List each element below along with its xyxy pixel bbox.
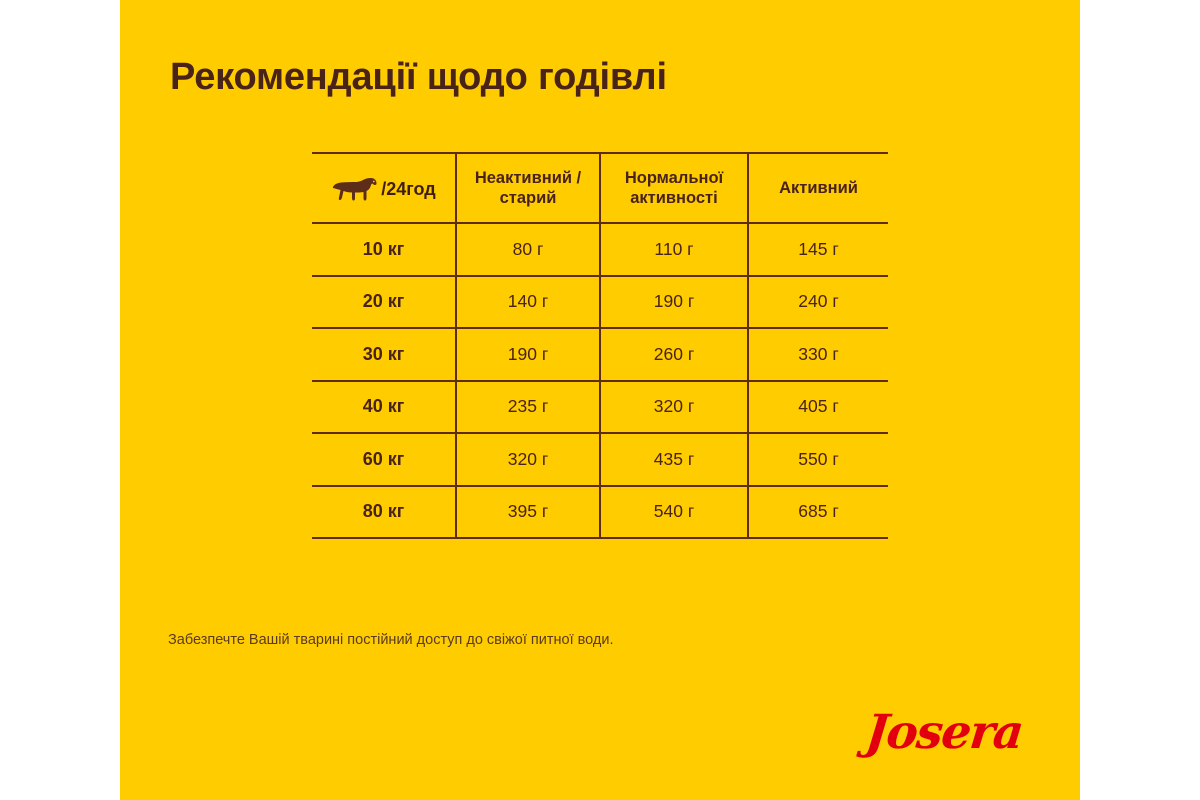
cell-normal: 435 г <box>600 433 748 486</box>
cell-normal: 110 г <box>600 223 748 276</box>
table-header: /24год Неактивний / старий Нормальної ак… <box>312 153 888 223</box>
per-day-label: /24год <box>381 180 435 198</box>
cell-active: 550 г <box>748 433 888 486</box>
cell-active: 330 г <box>748 328 888 381</box>
cell-normal: 190 г <box>600 276 748 329</box>
yellow-panel: Рекомендації щодо годівлі <box>120 0 1080 800</box>
cell-normal: 540 г <box>600 486 748 539</box>
cell-active: 145 г <box>748 223 888 276</box>
cell-inactive: 80 г <box>456 223 600 276</box>
header-normal-line1: Нормальної <box>607 168 741 188</box>
cell-inactive: 140 г <box>456 276 600 329</box>
cell-normal: 260 г <box>600 328 748 381</box>
cell-weight: 10 кг <box>312 223 456 276</box>
cell-inactive: 395 г <box>456 486 600 539</box>
cell-normal: 320 г <box>600 381 748 434</box>
header-inactive-line2: старий <box>463 188 593 208</box>
table-row: 60 кг 320 г 435 г 550 г <box>312 433 888 486</box>
cell-weight: 30 кг <box>312 328 456 381</box>
cell-inactive: 320 г <box>456 433 600 486</box>
cell-active: 685 г <box>748 486 888 539</box>
josera-logo-text: Josera <box>863 703 1039 763</box>
dog-icon <box>331 172 379 204</box>
cell-active: 405 г <box>748 381 888 434</box>
cell-inactive: 190 г <box>456 328 600 381</box>
cell-weight: 40 кг <box>312 381 456 434</box>
cell-weight: 60 кг <box>312 433 456 486</box>
header-inactive-line1: Неактивний / <box>463 168 593 188</box>
cell-weight: 20 кг <box>312 276 456 329</box>
header-cell-inactive: Неактивний / старий <box>456 153 600 223</box>
josera-logo: Josera <box>866 703 1036 763</box>
cell-active: 240 г <box>748 276 888 329</box>
page-title: Рекомендації щодо годівлі <box>170 56 667 99</box>
table-row: 80 кг 395 г 540 г 685 г <box>312 486 888 539</box>
footnote-text: Забезпечте Вашій тварині постійний досту… <box>168 632 614 648</box>
feeding-table: /24год Неактивний / старий Нормальної ак… <box>312 152 888 539</box>
table-body: 10 кг 80 г 110 г 145 г 20 кг 140 г 190 г… <box>312 223 888 538</box>
header-normal-line2: активності <box>607 188 741 208</box>
header-active-line1: Активний <box>755 178 882 198</box>
header-cell-active: Активний <box>748 153 888 223</box>
cell-inactive: 235 г <box>456 381 600 434</box>
header-cell-dog: /24год <box>312 153 456 223</box>
table-row: 30 кг 190 г 260 г 330 г <box>312 328 888 381</box>
table-header-row: /24год Неактивний / старий Нормальної ак… <box>312 153 888 223</box>
table-row: 10 кг 80 г 110 г 145 г <box>312 223 888 276</box>
feeding-recommendation-page: Рекомендації щодо годівлі <box>0 0 1200 800</box>
table-row: 20 кг 140 г 190 г 240 г <box>312 276 888 329</box>
header-cell-normal: Нормальної активності <box>600 153 748 223</box>
table-row: 40 кг 235 г 320 г 405 г <box>312 381 888 434</box>
cell-weight: 80 кг <box>312 486 456 539</box>
